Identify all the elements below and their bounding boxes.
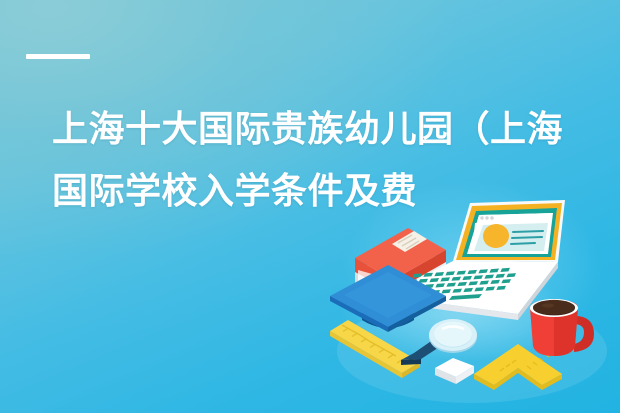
coffee-mug-icon [530, 299, 594, 356]
promo-banner: 上海十大国际贵族幼儿园（上海 国际学校入学条件及费 [0, 0, 620, 413]
decorative-rule [26, 54, 90, 59]
desk-illustration [322, 196, 620, 413]
headline-line-1: 上海十大国际贵族幼儿园（上海 [52, 98, 582, 160]
